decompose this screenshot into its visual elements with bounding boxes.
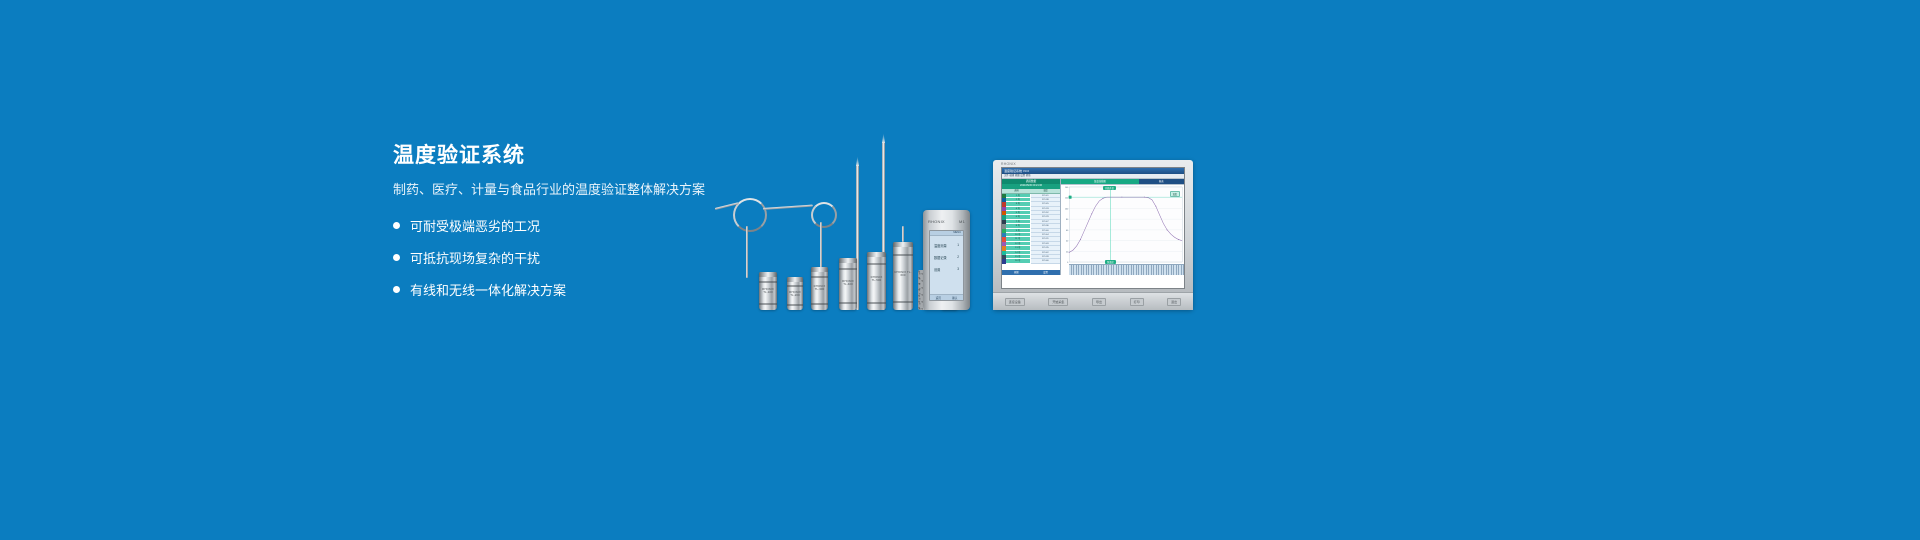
logger-band — [811, 303, 828, 305]
data-logger-3: RHONIX TL-300 — [811, 267, 828, 310]
handheld-menu-value: 2 — [957, 255, 959, 260]
y-axis-tick-label: 120 — [1065, 198, 1069, 200]
industrial-monitor[interactable]: RHONIX 温度验证系统 V3.0 文件 编辑 视图 设置 帮助 通道数据 2… — [993, 160, 1193, 310]
handheld-menu-row[interactable]: 数据记录 2 — [930, 255, 963, 260]
monitor-button-bar[interactable]: 连接设备 开始采集 导出 打印 退出 — [993, 292, 1193, 310]
product-photo: RHONIX TL-100 RHONIX TL-200 RHONIX TL-30… — [715, 120, 1210, 310]
handheld-softkey-bar[interactable]: 返回 确认 — [930, 294, 963, 300]
channel-panel-footer[interactable]: 刷新 设置 — [1002, 270, 1060, 275]
chart-data-point — [1069, 252, 1070, 253]
probe-wire — [763, 205, 813, 210]
y-axis-tick-label: 20 — [1066, 251, 1069, 253]
logger-cap — [893, 242, 913, 247]
chart-data-point — [1091, 213, 1092, 214]
y-axis-tick-label: 140 — [1065, 187, 1069, 189]
coiled-probe-small — [811, 202, 837, 228]
data-logger-5: RHONIX TL-500 — [867, 252, 886, 310]
logger-band — [867, 302, 886, 304]
monitor-button-export[interactable]: 导出 — [1092, 298, 1106, 306]
logger-band — [787, 304, 803, 306]
logger-label: RHONIX TL-400 — [840, 280, 855, 286]
monitor-screen[interactable]: 温度验证系统 V3.0 文件 编辑 视图 设置 帮助 通道数据 2024/05/… — [1001, 167, 1185, 289]
chart-data-point — [1178, 239, 1179, 240]
data-logger-4: RHONIX TL-400 — [839, 258, 857, 310]
handheld-menu-value: 3 — [957, 267, 959, 272]
monitor-button-connect[interactable]: 连接设备 — [1005, 298, 1025, 306]
logger-band — [759, 281, 777, 283]
cell-temperature: 121.46 — [1031, 259, 1060, 263]
hero-banner: 温度验证系统 制药、医疗、计量与食品行业的温度验证整体解决方案 可耐受极端恶劣的… — [0, 0, 1920, 540]
feature-label: 可抵抗现场复杂的干扰 — [410, 248, 540, 267]
y-axis-tick-label: 40 — [1066, 241, 1069, 243]
monitor-button-start[interactable]: 开始采集 — [1048, 298, 1068, 306]
x-axis-tick — [1182, 265, 1185, 275]
bullet-icon — [393, 286, 400, 293]
handheld-menu-label: 温度测量 — [934, 243, 947, 248]
logger-band — [759, 303, 777, 305]
column-header-channel: 通道 — [1002, 189, 1031, 193]
data-logger-2: RHONIX TL-200 — [787, 277, 803, 310]
probe-wire — [746, 226, 748, 278]
chart-y-cursor-handle[interactable] — [1069, 196, 1072, 199]
logger-band — [893, 254, 913, 256]
y-axis-tick-label: 80 — [1066, 219, 1069, 221]
handheld-menu-row[interactable]: 温度测量 1 — [930, 243, 963, 248]
handheld-status-bar: MENU — [930, 231, 963, 236]
logger-cap — [839, 258, 857, 263]
chart-panel[interactable]: 温度曲线图 报表 020406080100120140 温度 开始升温 保温段 — [1061, 179, 1184, 275]
monitor-button-exit[interactable]: 退出 — [1167, 298, 1181, 306]
handheld-brand: RHONIX — [928, 219, 945, 224]
logger-antenna — [902, 226, 904, 242]
column-header-temp: 温度 — [1031, 189, 1060, 193]
data-logger-6: RHONIX TL-600 — [893, 242, 913, 310]
chart-data-point — [1080, 239, 1081, 240]
channel-settings-button[interactable]: 设置 — [1031, 270, 1060, 275]
data-logger-1: RHONIX TL-100 — [759, 272, 777, 310]
table-row[interactable]: 16 号121.46 — [1002, 259, 1060, 263]
chart-plot-background — [1069, 187, 1182, 262]
chart-data-point — [1144, 197, 1145, 198]
cell-channel: 16 号 — [1006, 259, 1031, 263]
logger-band — [839, 268, 857, 270]
chart-cursor-top-label: 开始升温 — [1103, 186, 1116, 190]
logger-cap — [811, 267, 828, 272]
logger-label: RHONIX TL-500 — [868, 277, 884, 283]
handheld-screen[interactable]: MENU 温度测量 1 数据记录 2 设置 3 返回 确认 — [929, 230, 964, 301]
chart-data-point — [1103, 198, 1104, 199]
logger-band — [811, 276, 828, 278]
chart-data-point — [1155, 206, 1156, 207]
monitor-brand: RHONIX — [1001, 162, 1016, 166]
handheld-model: M1 — [959, 219, 965, 224]
handheld-menu-label: 数据记录 — [934, 255, 947, 260]
bullet-icon — [393, 222, 400, 229]
y-axis-tick-label: 100 — [1065, 208, 1069, 210]
temperature-curve-chart: 020406080100120140 — [1061, 184, 1184, 265]
chart-data-point — [1167, 229, 1168, 230]
handheld-brand-row: RHONIX M1 — [928, 219, 965, 224]
logger-label: RHONIX TL-200 — [788, 291, 801, 297]
handheld-reader[interactable]: RHONIX M1 MENU 温度测量 1 数据记录 2 设置 3 返回 — [923, 210, 970, 310]
x-axis-ticks — [1069, 265, 1184, 275]
logger-cap — [867, 252, 886, 257]
logger-band — [867, 263, 886, 265]
channel-refresh-button[interactable]: 刷新 — [1002, 270, 1031, 275]
logger-band — [787, 285, 803, 287]
channel-table-body[interactable]: 1 号121.412 号121.383 号121.454 号121.335 号1… — [1002, 194, 1060, 271]
logger-label: RHONIX TL-300 — [812, 285, 826, 291]
logger-cap — [787, 277, 803, 282]
logger-band — [893, 301, 913, 303]
y-axis-tick-label: 60 — [1066, 230, 1069, 232]
handheld-softkey-back[interactable]: 返回 — [936, 296, 941, 300]
logger-cap — [759, 272, 777, 277]
bullet-icon — [393, 254, 400, 261]
chart-data-point — [1121, 197, 1122, 198]
handheld-menu-value: 1 — [957, 243, 959, 248]
software-body: 通道数据 2024/05/20 09:21:36 通道 温度 1 号121.41… — [1002, 179, 1184, 275]
handheld-menu-row[interactable]: 设置 3 — [930, 267, 963, 272]
handheld-menu-label: 设置 — [934, 267, 940, 272]
chart-legend: 温度 — [1170, 191, 1180, 197]
chart-x-axis — [1069, 264, 1184, 275]
monitor-button-print[interactable]: 打印 — [1130, 298, 1144, 306]
logger-label: RHONIX TL-100 — [760, 288, 775, 294]
feature-label: 可耐受极端恶劣的工况 — [410, 216, 540, 235]
handheld-softkey-ok[interactable]: 确认 — [952, 296, 957, 300]
logger-label: RHONIX TL-600 — [894, 271, 911, 277]
feature-label: 有线和无线一体化解决方案 — [410, 280, 566, 299]
logger-band — [839, 302, 857, 304]
channel-panel: 通道数据 2024/05/20 09:21:36 通道 温度 1 号121.41… — [1002, 179, 1061, 275]
chart-plot-area[interactable]: 020406080100120140 温度 开始升温 保温段 — [1061, 184, 1184, 265]
